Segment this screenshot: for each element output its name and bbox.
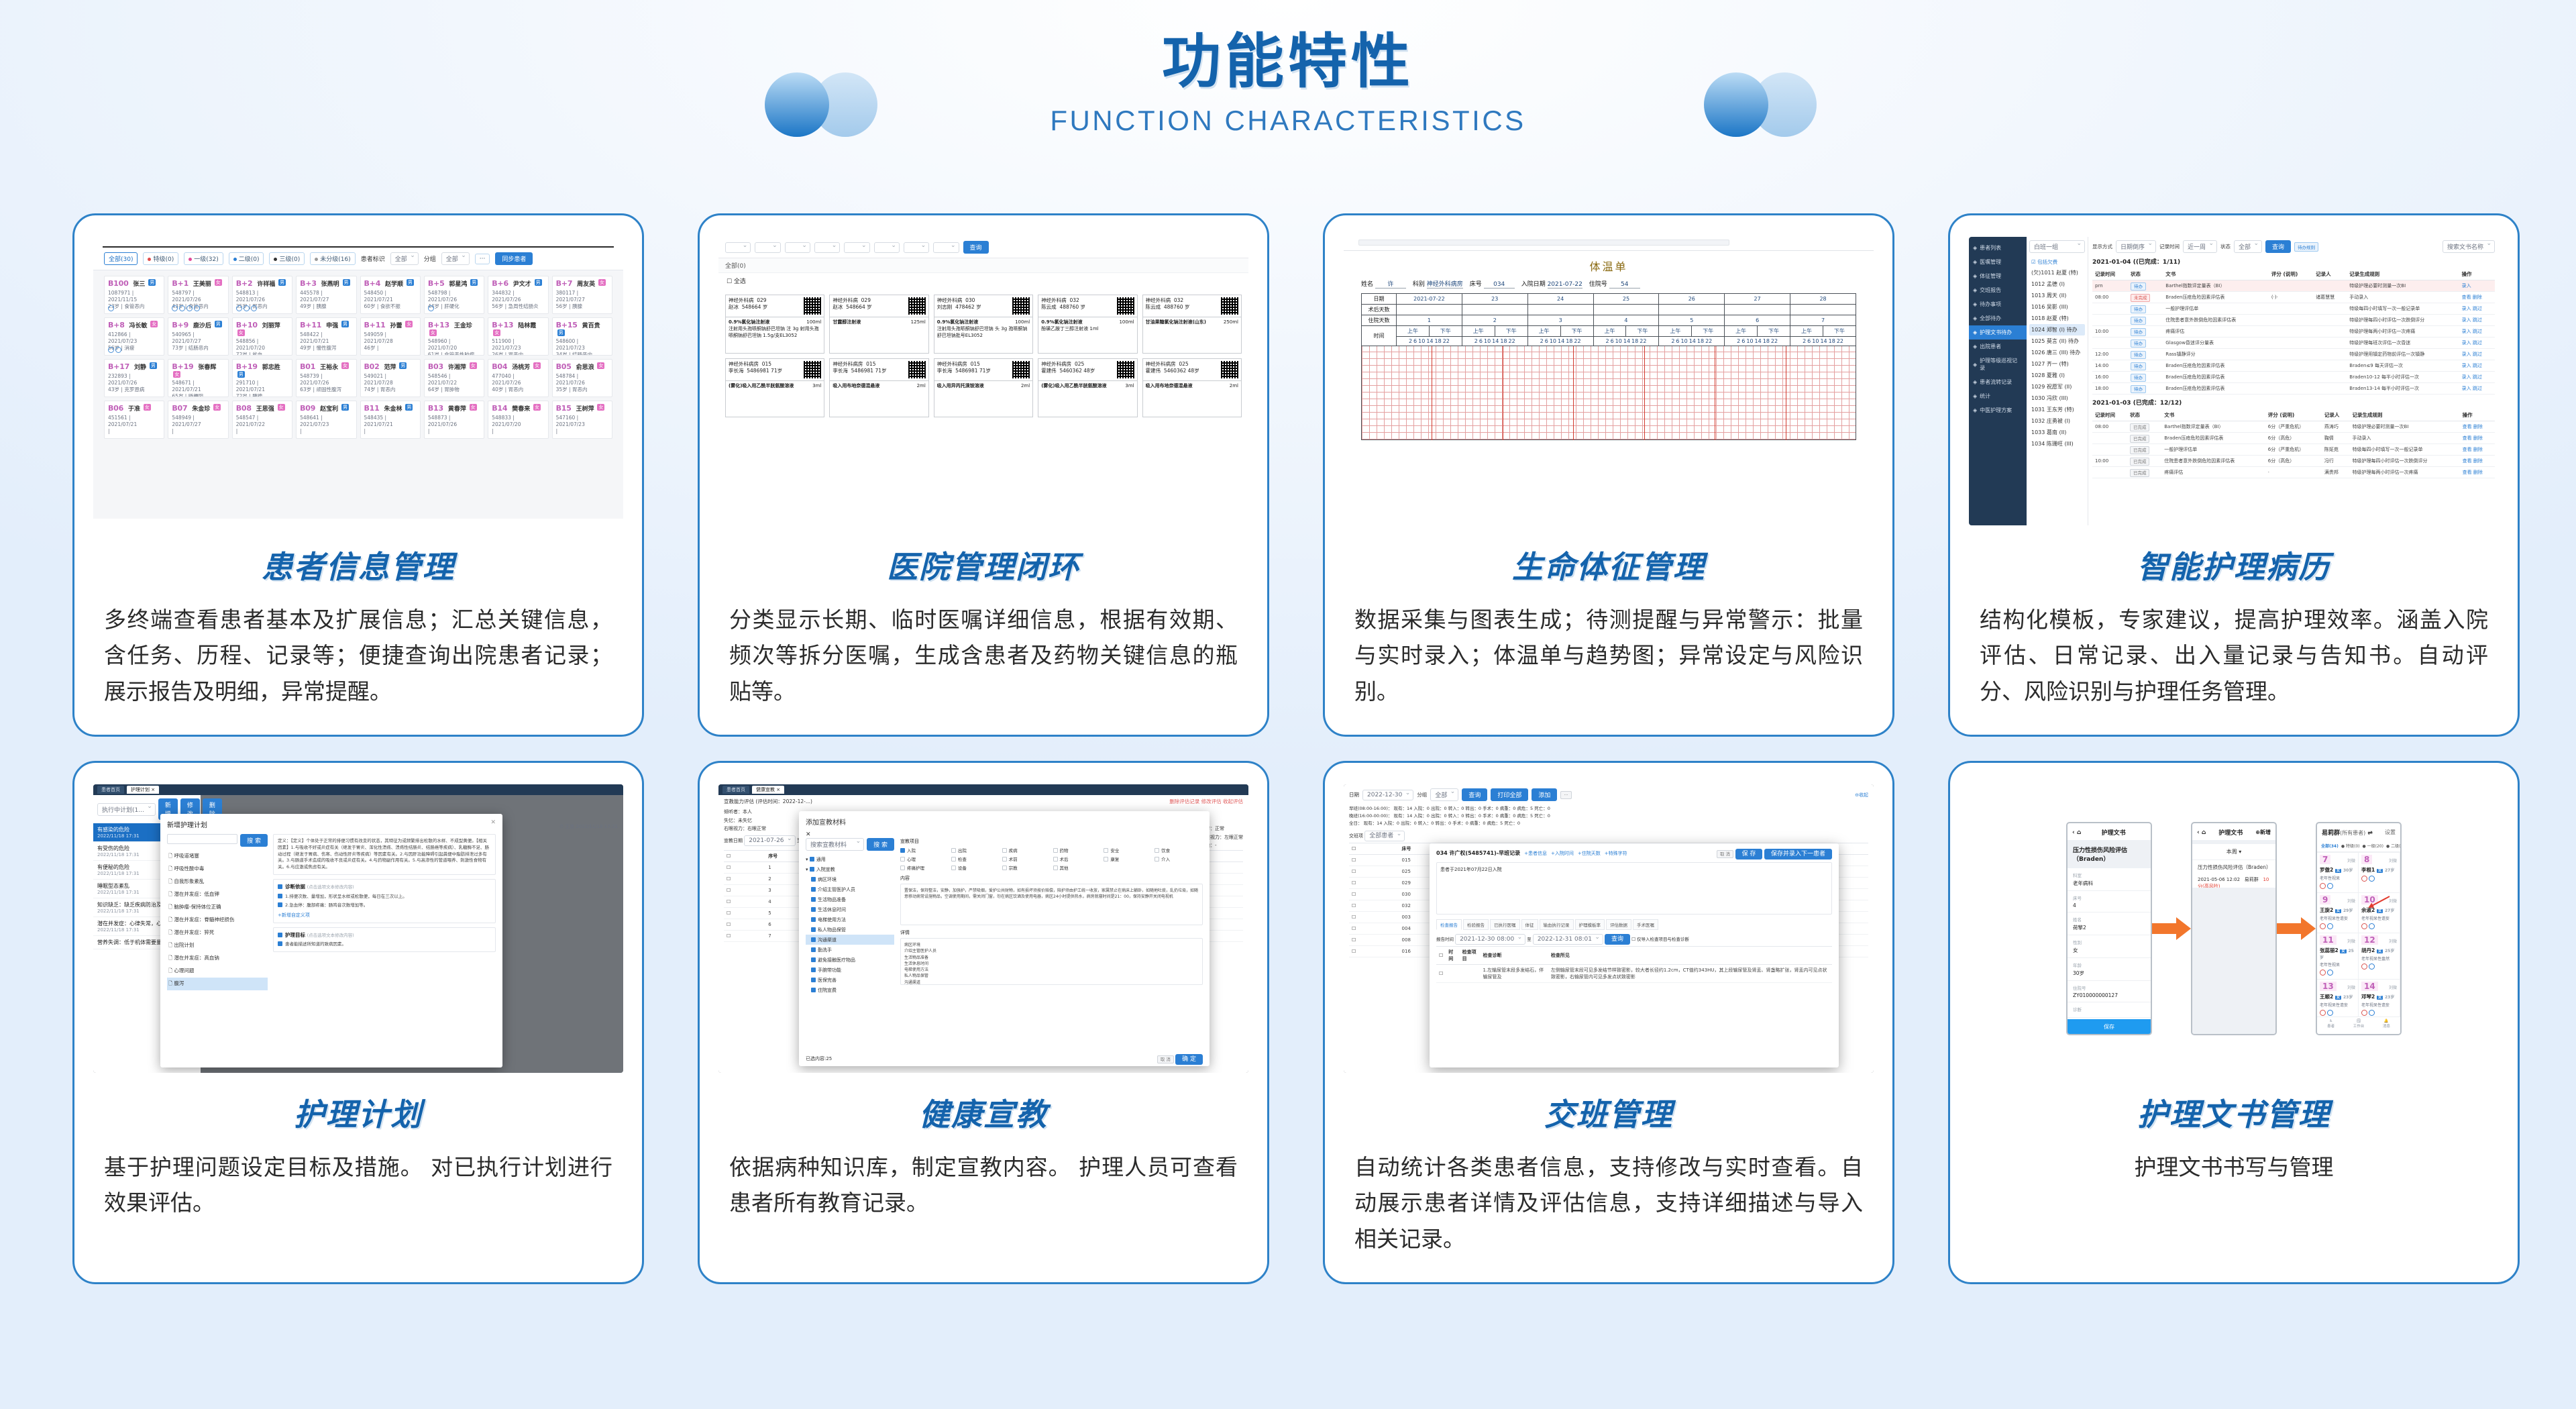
filter-tab[interactable]: ● 一级(20): [2363, 843, 2383, 849]
bed-card[interactable]: 9 刘微 王旋2 女 29岁 老年视呆性谵妄: [2317, 893, 2359, 933]
cell-check[interactable]: ☐: [1349, 900, 1399, 912]
patient-list-item[interactable]: 1030 冯欣 (III): [2029, 393, 2085, 404]
tree-item[interactable]: 🗋 潜在并发症：低血钾: [167, 888, 268, 901]
table-row[interactable]: 已完成 一般护理评估单 6分（严重危机） 陈姃苑 特级每四小时填写一次一般记录单…: [2092, 444, 2495, 456]
column-header: 检查项目: [1460, 947, 1481, 965]
filter-chip-5[interactable]: 未分级(16): [310, 252, 355, 265]
tree-item[interactable]: 🗋 呼吸性酸中毒: [167, 863, 268, 876]
feature-card-vital-signs[interactable]: 体温单 姓名 许科别 神经外科病房床号 034入院日期 2021-07-22住院…: [1323, 213, 1894, 737]
browser-address-bar[interactable]: [1344, 240, 1874, 251]
toolbar-select-3[interactable]: [814, 242, 840, 253]
tab[interactable]: 护理计划 ×: [127, 786, 159, 794]
patient-list-item[interactable]: (欠)1011 赵夏 (特): [2029, 267, 2085, 278]
tree-item[interactable]: 勤洗手: [806, 945, 894, 955]
sidebar-icon: ◈: [1973, 245, 1977, 251]
patient-card[interactable]: B+9 鹿沙后 男 540965 | 2021/07/2773岁 | 结肠恶内: [168, 317, 228, 356]
close-icon[interactable]: ✕: [490, 819, 496, 826]
content-textarea[interactable]: 置保洁，保持整洁，安静，加强护，严禁吸烟，爱护公共财物，如有损坏须按价赔偿，陪护…: [900, 884, 1203, 925]
patient-list-item[interactable]: 1027 齐一 (特): [2029, 358, 2085, 370]
feature-card-care-plan[interactable]: 患者首页护理计划 × 执行中计划(1...新 增修 改删 除 有感染的危险202…: [72, 761, 644, 1284]
table-row[interactable]: 18:00 待办 Braden压疮危险因素评估表 Braden13-14 每半小…: [2092, 383, 2495, 395]
tab[interactable]: 健康宣教 ×: [752, 786, 784, 794]
tree-item[interactable]: 🗋 呼吸道堵塞: [167, 850, 268, 863]
patient-card[interactable]: B06 于准 女 451561 | 2021/07/21 |: [104, 401, 164, 439]
patient-card[interactable]: B+6 尹文才 男 344832 | 2021/07/2656岁 | 急周性结肠…: [488, 276, 548, 314]
sheet-meta: 姓名 许科别 神经外科病房床号 034入院日期 2021-07-22住院号 54: [1361, 279, 1856, 289]
age: 23岁: [2385, 995, 2394, 1000]
category-checkbox[interactable]: 心理: [900, 855, 949, 862]
search-input[interactable]: 搜索文书名称: [2443, 240, 2495, 253]
cell-ops[interactable]: 录入 跳过: [2459, 337, 2495, 349]
insert-link[interactable]: +患者信息: [1524, 850, 1547, 857]
handover-select[interactable]: 全部患者: [1364, 831, 1405, 841]
cell-ops[interactable]: 录入 跳过: [2459, 326, 2495, 337]
table-row[interactable]: 08:00 未完成 Braden压疮危险因素评估表 (·)· 诸葛慧慧 手动录入…: [2092, 292, 2495, 303]
select-status[interactable]: 全部: [2234, 240, 2262, 253]
patient-meta: 344832 | 2021/07/2656岁 | 急周性结肠炎: [492, 290, 544, 310]
category-checkbox[interactable]: 设备: [951, 864, 1000, 871]
tab-bar: 患者首页护理计划 ×: [93, 784, 623, 795]
cancel-button[interactable]: 取 消: [1157, 1055, 1174, 1063]
patient-meta: 232893 | 2021/07/2643岁 | 克罗恩病: [108, 373, 160, 393]
patient-list-item[interactable]: 1034 陈珊旺 (III): [2029, 438, 2085, 450]
cell-ops[interactable]: 查看 删除: [2459, 292, 2495, 303]
cell-doc: Glasgow昏迷评分量表: [2163, 337, 2269, 349]
bottle-label: 神经外科病房 025霍建伟 5460362 48岁 (雾化)吸入用乙酰半胱氨酸溶…: [1038, 358, 1137, 417]
tabbar-item[interactable]: 🗒工作台: [2345, 1017, 2372, 1034]
group-select[interactable]: 白班一组: [2029, 240, 2085, 253]
sidebar-icon: ◈: [1973, 329, 1977, 335]
cell-check[interactable]: ☐: [1349, 923, 1399, 935]
dialog-button[interactable]: 保 存: [1735, 849, 1763, 859]
field-label: 住院号: [2073, 984, 2145, 991]
select-group[interactable]: 全部: [441, 252, 470, 265]
tree-item[interactable]: 住院宣费: [806, 985, 894, 995]
cell-check[interactable]: ☐: [1349, 935, 1399, 946]
close-icon[interactable]: ✕: [806, 831, 1203, 838]
sidebar-item[interactable]: ◈交班报告: [1969, 283, 2027, 297]
table-row[interactable]: 已完成 Braden压疮危险因素评估表 6分（高危） 鞠倩 手动录入 查看 删除: [2092, 433, 2495, 444]
category-checkbox[interactable]: 康复: [1104, 855, 1152, 862]
dialog-tab[interactable]: 检验报告: [1463, 919, 1489, 930]
filter-chip-3[interactable]: 二级(0): [229, 252, 264, 265]
back-icon[interactable]: ‹ ⌂: [2197, 829, 2206, 836]
diagnosis-item[interactable]: 2.急血停：腹部疼痛：肠鸣音次数增加等。: [278, 902, 491, 909]
table-row[interactable]: 08:00 已完成 Barthel指数评定量表（BI） 6分（严重危机） 燕涛巧…: [2092, 421, 2495, 433]
patient-sex-badge: 女: [470, 404, 477, 411]
feature-card-hospital-loop[interactable]: 查询全部(0)☐ 全选 神经外科病 029赵冰 548664 岁 0.9%氯化钠…: [698, 213, 1269, 737]
table-row[interactable]: 待办 Glasgow昏迷评分量表 特级护理每班次评估一次昏迷 录入 跳过: [2092, 337, 2495, 349]
search-button[interactable]: 搜 索: [867, 838, 894, 851]
toolbar-button[interactable]: 添加: [1532, 788, 1557, 801]
patient-card[interactable]: B03 许湘萍 女 548546 | 2021/07/2264岁 | 胃肿物: [424, 359, 484, 397]
table-row[interactable]: prn 待办 Barthel指数评定量表（BI） 特级护理必要时测量一次BI 录…: [2092, 280, 2495, 292]
form-field[interactable]: 住院号ZY010000000127: [2068, 981, 2151, 1002]
category-checkbox[interactable]: 术前: [1002, 855, 1051, 862]
category-checkbox[interactable]: 饮食: [1155, 847, 1203, 853]
filter-chip-4[interactable]: 三级(0): [269, 252, 305, 265]
filter-chip-all[interactable]: 全部(30): [104, 252, 138, 265]
patient-card[interactable]: B+3 张燕明 男 445578 | 2021/07/2749岁 | 胰腺: [296, 276, 356, 314]
feature-card-nursing-docs[interactable]: ‹ ⌂ 护理文书 压力性损伤风险评估（Braden）科室老年病科床号4姓名荷擎2…: [1948, 761, 2520, 1284]
table-row[interactable]: 14:00 待办 Braden压疮危险因素评估表 Braden≤9 每天评估一次…: [2092, 360, 2495, 372]
patient-list-item[interactable]: 1025 莫言 (II) 待办: [2029, 335, 2085, 347]
am-cell: 上午: [1397, 326, 1430, 337]
query-button[interactable]: 查询: [2265, 240, 2291, 253]
tree-item[interactable]: 🗋 自我形象紊乱: [167, 876, 268, 888]
bed-card[interactable]: 8 刘微 李根1 女 27岁: [2359, 853, 2400, 893]
insert-link[interactable]: +入院时间: [1551, 850, 1574, 857]
patient-name: 张三: [133, 281, 145, 288]
category-checkbox[interactable]: 出院: [951, 847, 1000, 853]
count-tab[interactable]: 全部(0): [718, 258, 1248, 273]
form-field[interactable]: 姓名荷擎2: [2068, 912, 2151, 935]
dialog-tab[interactable]: 体征: [1521, 919, 1538, 930]
form-field[interactable]: 科室老年病科: [2068, 868, 2151, 891]
tree-item[interactable]: 🗋 腹泻: [167, 978, 268, 990]
patient-card[interactable]: B05 俞思浪 女 548784 | 2021/07/2635岁 | 胃恶内: [552, 359, 612, 397]
tabbar-item[interactable]: 🔔消息: [2373, 1017, 2400, 1034]
patient-card[interactable]: B+4 赵学顺 男 548450 | 2021/07/2160岁 | 食欲不振: [360, 276, 421, 314]
table-header-row: ☐时间检查项目检查诊断检查所见: [1436, 947, 1832, 965]
sidebar-item[interactable]: ◈中医护理方案: [1969, 403, 2027, 417]
tabbar-item[interactable]: ♿患者: [2317, 1017, 2345, 1034]
cell-ops[interactable]: 查看 删除: [2460, 456, 2495, 467]
row-label-postop: 术后天数: [1362, 305, 1397, 315]
category-checkbox[interactable]: 检查: [951, 855, 1000, 862]
cell-check[interactable]: ☐: [1349, 912, 1399, 923]
tab[interactable]: 患者首页: [722, 786, 749, 794]
dialog-button[interactable]: 取 消: [1717, 850, 1733, 858]
sidebar-item[interactable]: ◈患者流转记录: [1969, 375, 2027, 389]
cell-time: 08:00: [2092, 421, 2127, 433]
date-input[interactable]: 2022-12-30: [1362, 790, 1413, 800]
tree-item[interactable]: 🗋 潜在并发症：高血钠: [167, 952, 268, 965]
patient-card[interactable]: B+17 刘静 男 232893 | 2021/07/2643岁 | 克罗恩病: [104, 359, 164, 397]
form-field[interactable]: 性别女: [2068, 935, 2151, 958]
patient-list-item[interactable]: 1029 祝愿军 (II): [2029, 381, 2085, 393]
meta-item: 住院号 54: [1589, 279, 1640, 289]
tree-item[interactable]: ▾ 入院宣教: [806, 864, 894, 874]
diagnosis-item[interactable]: 1.排便次数、量增加，形状呈水样或松散便，每日在三次以上。: [278, 894, 491, 900]
patient-card[interactable]: B+5 郭星鸿 男 548798 | 2021/07/2644岁 | 肝硬化: [424, 276, 484, 314]
category-checkbox[interactable]: 入院: [900, 847, 949, 853]
cell-ops[interactable]: 查看 删除: [2460, 421, 2495, 433]
patient-card[interactable]: B07 朱金珍 女 548949 | 2021/07/27 |: [168, 401, 228, 439]
more-button[interactable]: ···: [475, 254, 490, 264]
bed-card[interactable]: 10 刘微 余淑2 女 27岁 老年视呆性谵妄: [2359, 893, 2400, 933]
table-row[interactable]: 10:00 待办 疼痛评估 特级护理每两小时评估一次疼痛 录入 跳过: [2092, 326, 2495, 337]
patient-card[interactable]: B15 王树萍 女 547160 | 2021/07/23 |: [552, 401, 612, 439]
patient-list-item[interactable]: 1018 赵夏 (特): [2029, 313, 2085, 324]
toolbar-select-7[interactable]: [933, 242, 959, 253]
screenshot-handover: 日期 2022-12-30 分组 全部 查询打印全部添加 ··· ⊖收起 早班(…: [1344, 784, 1874, 1073]
sidebar-item[interactable]: ◈护理等级巡视记录: [1969, 354, 2027, 375]
patient-card[interactable]: B100 张三 男 1087971 | 2021/11/1523岁 | 食管恶内: [104, 276, 164, 314]
patient-card[interactable]: B+15 黄百贵 男 548600 | 2021/07/2334岁 | 结肠恶内: [552, 317, 612, 356]
toolbar-select-0[interactable]: [725, 242, 751, 253]
sidebar-item[interactable]: ◈待办事项: [1969, 297, 2027, 311]
category-checkbox[interactable]: 疾病: [1002, 847, 1051, 853]
patient-card[interactable]: B08 王思强 女 548547 | 2021/07/22 |: [232, 401, 292, 439]
select-time[interactable]: 近一周: [2183, 240, 2217, 253]
toolbar-select-6[interactable]: [904, 242, 929, 253]
report-to-input[interactable]: 2022-12-31 08:01: [1533, 934, 1603, 945]
tree-item[interactable]: 介绍主管医护人员: [806, 884, 894, 894]
sync-patients-button[interactable]: 同步患者: [495, 252, 533, 265]
patient-list-item[interactable]: 1028 夏雅 (I): [2029, 370, 2085, 381]
label-patient-info: 神经外科病 030刘志刚 478462 岁: [937, 297, 981, 315]
patient-card[interactable]: B01 王裕永 女 548739 | 2021/07/2663岁 | 顽固性腹泻: [296, 359, 356, 397]
sidebar-item[interactable]: ◈体征管理: [1969, 269, 2027, 283]
patient-card[interactable]: B+13 陆林霞 女 511900 | 2021/07/2326岁 | 胃恶内: [488, 317, 548, 356]
patient-card[interactable]: B14 樊春来 女 548833 | 2021/07/20 |: [488, 401, 548, 439]
add-button[interactable]: ⊕新增: [2255, 829, 2271, 836]
cell-check[interactable]: ☐: [1349, 866, 1399, 878]
category-checkbox[interactable]: 疼痛护理: [900, 864, 949, 871]
tree-item[interactable]: 沟通渠道: [806, 935, 894, 945]
form-field[interactable]: 诊断: [2068, 1002, 2151, 1018]
feature-card-health-education[interactable]: 患者首页健康宣教 × 宣教能力评估 (评估时间：2022-12-...) 删除评…: [698, 761, 1269, 1284]
phone-header: 易莉群(所有患者) ⇌ 设置: [2317, 823, 2400, 840]
tree-item[interactable]: ▾ 通用: [806, 854, 894, 864]
feature-card-patient-info[interactable]: 全部(30)特级(0)一级(32)二级(0)三级(0)未分级(16) 患者标识 …: [72, 213, 644, 737]
bed-nurse: 刘微: [2347, 857, 2355, 864]
patient-card[interactable]: B13 黄春萍 女 548873 | 2021/07/26 |: [424, 401, 484, 439]
bed-card[interactable]: 12 刘微 胡丹2 女 25岁 老年视呆性盎然: [2359, 933, 2400, 980]
dialog-tab[interactable]: 手术医嘱: [1633, 919, 1658, 930]
tree-item[interactable]: 病区环境: [806, 874, 894, 884]
form-field[interactable]: 年龄30岁: [2068, 958, 2151, 981]
hour-cell: 2610141822: [1790, 337, 1856, 346]
patient-list-item[interactable]: 1033 葛南 (II): [2029, 427, 2085, 438]
feature-card-handover[interactable]: 日期 2022-12-30 分组 全部 查询打印全部添加 ··· ⊖收起 早班(…: [1323, 761, 1894, 1284]
patient-card[interactable]: B+11 孙蕾 女 549059 | 2021/07/2846岁 |: [360, 317, 421, 356]
patient-card[interactable]: B+10 刘丽萍 女 548856 | 2021/07/2072岁 | 贫血: [232, 317, 292, 356]
patient-list-item[interactable]: 1031 王东芳 (特): [2029, 404, 2085, 415]
cell-ops[interactable]: 录入 跳过: [2459, 383, 2495, 395]
patient-name: 樊春来: [512, 406, 530, 413]
patient-card[interactable]: B02 范萍 男 549021 | 2021/07/2874岁 | 胃恶内: [360, 359, 421, 397]
dialog-tab[interactable]: 评估数据: [1606, 919, 1631, 930]
sidebar-item[interactable]: ◈全部待办: [1969, 311, 2027, 325]
cell-check[interactable]: ☐: [724, 896, 765, 907]
bed-card[interactable]: 13 刘微 王顺2 女 23岁 老年视呆性谵妄: [2317, 980, 2359, 1020]
tree-item[interactable]: 🗋 潜在并发症：猝死: [167, 927, 268, 939]
report-from-input[interactable]: 2021-12-30 08:00: [1455, 934, 1525, 945]
category-checkbox[interactable]: 安全: [1104, 847, 1152, 853]
bed-card[interactable]: 11 刘微 张蕊丽2 女 25岁 老年性视呆: [2317, 933, 2359, 980]
bed-card[interactable]: 7 刘微 罗傲2 女 30岁 老年性视呆: [2317, 853, 2359, 893]
cell-check[interactable]: ☐: [724, 862, 765, 873]
handover-filter: 交班项 全部患者: [1344, 827, 1874, 843]
query-button[interactable]: 查询: [963, 241, 989, 254]
patient-card[interactable]: B+13 王金珍 女 548960 | 2021/07/2061岁 | 食管恶性…: [424, 317, 484, 356]
plan-select[interactable]: 执行中计划(1...: [97, 803, 156, 816]
feature-card-smart-nursing-record[interactable]: ◈患者列表◈医嘱管理◈体征管理◈交班报告◈待办事项◈全部待办◈护理文书待办◈出院…: [1948, 213, 2520, 737]
toolbar-button[interactable]: 查询: [1462, 788, 1487, 801]
cell-ops[interactable]: 录入 跳过: [2459, 349, 2495, 360]
select-display[interactable]: 日期倒序: [2116, 240, 2156, 253]
dialog-tab[interactable]: 已执行医嘱: [1490, 919, 1520, 930]
tree-item[interactable]: 🗋 脑肿瘤-保持体位正确: [167, 901, 268, 914]
patient-card[interactable]: B+19 张春辉 女 548671 | 2021/07/2165岁 | 肠梗阻: [168, 359, 228, 397]
card-title: 护理计划: [74, 1090, 642, 1135]
date-cell: 27: [1725, 294, 1790, 305]
sidebar-item[interactable]: ◈出院患者: [1969, 340, 2027, 354]
select-all-checkbox[interactable]: ☐ 全选: [718, 273, 1248, 289]
goal-item[interactable]: 患者能描述所知道的致病因素。: [278, 941, 491, 948]
select-identify[interactable]: 全部: [390, 252, 419, 265]
week-filter[interactable]: 本周 ▾: [2192, 844, 2275, 859]
patient-list-item[interactable]: 1024 郑智 (I) 待办: [2029, 324, 2085, 335]
tree-item[interactable]: 电梯使用方法: [806, 915, 894, 925]
tree-item[interactable]: 生活休息时间: [806, 904, 894, 915]
cell-ops[interactable]: 录入 跳过: [2459, 303, 2495, 315]
filter-chip-1[interactable]: 特级(0): [143, 252, 178, 265]
patient-card[interactable]: B+7 周友英 女 380117 | 2021/07/2756岁 | 胰腺: [552, 276, 612, 314]
date-from-input[interactable]: 2021-07-26: [744, 835, 795, 846]
sidebar-item[interactable]: ◈患者列表: [1969, 241, 2027, 255]
patient-list-item[interactable]: 1012 孟德 (I): [2029, 278, 2085, 290]
add-custom-link[interactable]: +新增自定义项: [278, 912, 491, 919]
category-checkbox[interactable]: 术后: [1053, 855, 1102, 862]
tree-item[interactable]: 避免接触医疗物品: [806, 955, 894, 965]
insert-link[interactable]: +住院天数: [1578, 850, 1601, 857]
patient-card[interactable]: B+11 申强 男 548422 | 2021/07/2149岁 | 慢性腹泻: [296, 317, 356, 356]
cell-ops[interactable]: 录入 跳过: [2459, 372, 2495, 383]
filter-tab[interactable]: ● 二级(0): [2386, 843, 2402, 849]
tree-item[interactable]: 私人物品保管: [806, 925, 894, 935]
cell-ops[interactable]: 录入 跳过: [2459, 315, 2495, 326]
label-drug: 0.9%氯化钠注射液 100ml注射用头孢哌酮钠舒巴坦钠 注 3g 射用头孢哌酮…: [726, 317, 824, 353]
tree-item[interactable]: 🗋 出院计划: [167, 939, 268, 952]
cell-ops[interactable]: 录入: [2459, 280, 2495, 292]
dialog-tab[interactable]: 检查报告: [1436, 919, 1462, 930]
assessment-ops[interactable]: 删除评估记录 修改评估 收起评估: [1169, 798, 1243, 805]
dialog-button[interactable]: 保存并录入下一患者: [1764, 849, 1832, 859]
sheet-title: 体温单: [1361, 258, 1856, 274]
tab[interactable]: 患者首页: [97, 786, 124, 794]
only-import-checkbox[interactable]: ☐ 仅导入检查项目与检查诊断: [1631, 937, 1689, 942]
tree-item[interactable]: 手腕带功能: [806, 965, 894, 975]
save-button[interactable]: 保存: [2068, 1019, 2151, 1034]
dialog-tab[interactable]: 护理模板率: [1575, 919, 1605, 930]
category-checkbox[interactable]: 药物: [1053, 847, 1102, 853]
group-select[interactable]: 全部: [1430, 788, 1458, 801]
sidebar-item[interactable]: ◈医嘱管理: [1969, 255, 2027, 269]
tree-item[interactable]: 🗋 心理问题: [167, 965, 268, 978]
table-row[interactable]: 待办 住院患者意外跌倒危险因素评估表 特级护理每四小时评估一次跌倒评分 录入 跳…: [2092, 315, 2495, 326]
cell-ops[interactable]: 查看 删除: [2460, 433, 2495, 444]
bottle-label: 神经外科病房 015李长海 5486981 71岁 吸入用异丙托溴铵溶液 2ml: [934, 358, 1033, 417]
category-checkbox[interactable]: 其他: [1053, 864, 1102, 871]
settings-button[interactable]: 设置: [2385, 829, 2396, 836]
filter-chip-2[interactable]: 一级(32): [184, 252, 223, 265]
sidebar-item[interactable]: ◈护理文书待办: [1969, 325, 2027, 340]
insert-link[interactable]: +特殊字符: [1605, 850, 1627, 857]
filter-tab[interactable]: ● 特级(0): [2341, 843, 2360, 849]
patient-card[interactable]: B+1 王美丽 女 548797 | 2021/07/2643岁 | 食管恶内: [168, 276, 228, 314]
report-query-button[interactable]: 查询: [1605, 934, 1630, 945]
patient-name: 王树萍: [576, 406, 594, 413]
search-input[interactable]: [167, 834, 237, 844]
cell-check[interactable]: ☐: [724, 919, 765, 930]
patient-card[interactable]: B04 汤桃芳 女 477040 | 2021/07/2640岁 | 胃恶内: [488, 359, 548, 397]
cell-recorder: [2313, 383, 2347, 395]
patient-card[interactable]: B+19 郭忠胜 男 291710 | 2021/07/2172岁 | 胰腺: [232, 359, 292, 397]
cell-rule: 手动录入: [2350, 433, 2460, 444]
table-row[interactable]: 10:00 已完成 住院患者意外跌倒危险因素评估表 6分（高危） 冯行 特级护理…: [2092, 456, 2495, 467]
form-field[interactable]: 床号4: [2068, 891, 2151, 912]
toolbar-select-2[interactable]: [785, 242, 810, 253]
cell-ops[interactable]: 录入 跳过: [2459, 360, 2495, 372]
table-row[interactable]: 已完成 疼痛评估 · 满贵邦 特级护理每两小时评估一次疼痛 查看 删除: [2092, 467, 2495, 478]
cell-check[interactable]: ☐: [1349, 946, 1399, 957]
todo-rule-button[interactable]: 待办规则: [2294, 242, 2318, 252]
category-checkbox[interactable]: 宗教: [1002, 864, 1051, 871]
patient-card[interactable]: B+8 冯长敏 女 412866 | 2021/07/2356岁 | 消瘦: [104, 317, 164, 356]
patient-card[interactable]: B09 赵宝利 男 548641 | 2021/07/23 |: [296, 401, 356, 439]
tree-item[interactable]: 医保完善: [806, 975, 894, 985]
back-icon[interactable]: ‹ ⌂: [2072, 829, 2081, 836]
table-row[interactable]: 16:00 待办 Braden压疮危险因素评估表 Braden10-12 每半小…: [2092, 372, 2495, 383]
cell-check[interactable]: ☐: [724, 930, 765, 941]
cell-score: 6分（严重危机）: [2265, 444, 2322, 456]
record-textarea[interactable]: 患者于2021年07月22日入院: [1436, 862, 1832, 915]
toolbar-select-5[interactable]: [874, 242, 900, 253]
table-row[interactable]: 待办 一般护理评估单 特级每四小时填写一次一般记录单 录入 跳过: [2092, 303, 2495, 315]
field-value: 4: [2073, 902, 2145, 908]
patient-card[interactable]: B11 朱金林 男 548435 | 2021/07/21 |: [360, 401, 421, 439]
patient-list-item[interactable]: 1016 吴影 (III): [2029, 301, 2085, 313]
cell-check[interactable]: ☐: [1349, 855, 1399, 866]
flow-arrow-2-icon: [2277, 917, 2316, 940]
cell-check[interactable]: ☐: [1349, 889, 1399, 900]
toolbar-select-4[interactable]: [844, 242, 869, 253]
cell-check[interactable]: ☐: [724, 907, 765, 919]
patient-list-item[interactable]: 1013 周天 (II): [2029, 290, 2085, 301]
sex-badge: 女: [2340, 949, 2347, 953]
dialog-tab[interactable]: 输血执行记录: [1540, 919, 1574, 930]
bed-card[interactable]: 14 刘微 邓琴2 女 23岁 老年视呆性谵妄: [2359, 980, 2400, 1020]
cell-check[interactable]: ☐: [724, 884, 765, 896]
filter-tab[interactable]: 全部(34): [2321, 843, 2339, 849]
patient-bed: B+11: [364, 321, 386, 329]
category-checkbox[interactable]: 介入: [1155, 855, 1203, 862]
tree-item[interactable]: 生活物品准备: [806, 894, 894, 904]
more-button[interactable]: ···: [1560, 791, 1571, 799]
cell-ops[interactable]: 查看 删除: [2460, 444, 2495, 456]
label-drug: 0.9%氯化钠注射液 100ml酚磺乙胺丁三醇注射液 1ml: [1038, 317, 1136, 353]
patient-list-item[interactable]: 1032 庄勇被 (I): [2029, 415, 2085, 427]
tree-item[interactable]: 🗋 潜在并发症：脊髓神经损伤: [167, 914, 268, 927]
patient-list-item[interactable]: 1026 唐三 (III) 待办: [2029, 347, 2085, 358]
toolbar-button[interactable]: 打印全部: [1491, 788, 1528, 801]
cell-ops[interactable]: 查看 删除: [2460, 467, 2495, 478]
search-input[interactable]: 搜索宣教材料: [806, 838, 864, 851]
confirm-button[interactable]: 确 定: [1175, 1054, 1203, 1065]
search-button[interactable]: 搜 索: [240, 834, 268, 847]
include-debt-checkbox[interactable]: ☑ 包括欠费: [2029, 257, 2085, 267]
collapse-button[interactable]: ⊖收起: [1855, 792, 1868, 798]
cell-check[interactable]: ☐: [1349, 878, 1399, 889]
table-row[interactable]: 12:00 待办 Rass镇静评分 特级护理用镇定药物前评估一次镇静 录入 跳过: [2092, 349, 2495, 360]
sidebar-item[interactable]: ◈统计: [1969, 389, 2027, 403]
patient-card[interactable]: B+2 许祥福 男 548813 | 2021/07/2635岁 | 胃恶内: [232, 276, 292, 314]
cell-check[interactable]: ☐: [724, 873, 765, 884]
toolbar-select-1[interactable]: [755, 242, 780, 253]
